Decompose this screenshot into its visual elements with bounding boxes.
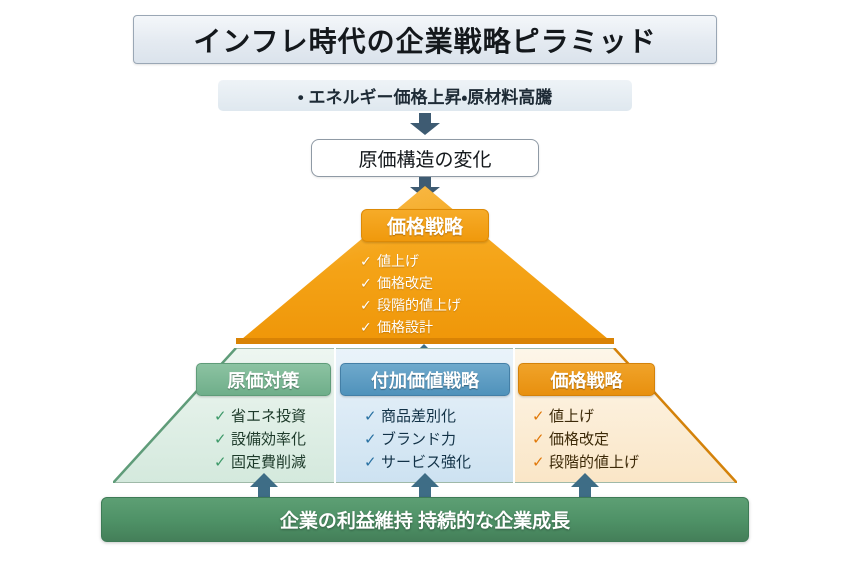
bullet-glyph: • [298, 88, 304, 107]
page-title-text: インフレ時代の企業戦略ピラミッド [193, 20, 656, 60]
list-item: ✓ 価格改定 [532, 427, 692, 450]
check-icon: ✓ [214, 453, 231, 471]
column-header-cost-label: 原価対策 [228, 367, 300, 393]
column-list-price: ✓ 値上げ ✓ 価格改定 ✓ 段階的値上げ [532, 404, 692, 473]
check-icon: ✓ [532, 453, 549, 471]
check-icon: ✓ [532, 407, 549, 425]
list-item: ✓ 値上げ [532, 404, 692, 427]
list-item-label: 値上げ [377, 251, 419, 271]
arrow-up-icon [250, 473, 278, 499]
column-list-value: ✓ 商品差別化 ✓ ブランド力 ✓ サービス強化 [364, 404, 524, 473]
apex-item-list: ✓ 値上げ ✓ 価格改定 ✓ 段階的値上げ ✓ 価格設計 [360, 250, 520, 338]
foundation-label: 企業の利益維持 持続的な企業成長 [280, 506, 570, 533]
apex-header-label: 価格戦略 [387, 212, 463, 239]
column-header-price-label: 価格戦略 [551, 367, 623, 393]
list-item-label: 段階的値上げ [549, 451, 639, 472]
list-item: ✓ ブランド力 [364, 427, 524, 450]
check-icon: ✓ [532, 430, 549, 448]
check-icon: ✓ [360, 297, 377, 314]
list-item-label: サービス強化 [381, 451, 471, 472]
diagram-canvas: インフレ時代の企業戦略ピラミッド • エネルギー価格上昇・原材料高騰 原価構造の… [0, 0, 850, 568]
apex-header-chip: 価格戦略 [361, 209, 489, 242]
list-item: ✓ 省エネ投資 [214, 404, 374, 427]
list-item-label: 価格設計 [377, 317, 433, 337]
foundation-bar: 企業の利益維持 持続的な企業成長 [101, 497, 749, 542]
arrow-head [411, 473, 439, 487]
arrow-up-icon [411, 473, 439, 499]
list-item-label: 設備効率化 [231, 428, 306, 449]
list-item-label: 段階的値上げ [377, 295, 461, 315]
column-list-cost: ✓ 省エネ投資 ✓ 設備効率化 ✓ 固定費削減 [214, 404, 374, 473]
inflation-drivers-text: エネルギー価格上昇・原材料高騰 [308, 88, 552, 107]
list-item: ✓ サービス強化 [364, 450, 524, 473]
inflation-drivers-banner: • エネルギー価格上昇・原材料高騰 [218, 80, 632, 111]
list-item: ✓ 価格設計 [360, 316, 520, 338]
check-icon: ✓ [364, 430, 381, 448]
list-item-label: 価格改定 [549, 428, 609, 449]
column-header-cost: 原価対策 [196, 363, 331, 396]
check-icon: ✓ [214, 430, 231, 448]
column-header-value: 付加価値戦略 [340, 363, 510, 396]
list-item-label: 価格改定 [377, 273, 433, 293]
check-icon: ✓ [360, 319, 377, 336]
check-icon: ✓ [214, 407, 231, 425]
page-title: インフレ時代の企業戦略ピラミッド [133, 15, 717, 64]
list-item: ✓ 段階的値上げ [532, 450, 692, 473]
cost-structure-change-label: 原価構造の変化 [358, 145, 491, 172]
arrow-down-icon [410, 113, 440, 135]
arrow-up-icon [571, 473, 599, 499]
list-item-label: 省エネ投資 [231, 405, 306, 426]
column-header-price: 価格戦略 [518, 363, 655, 396]
list-item: ✓ 商品差別化 [364, 404, 524, 427]
arrow-head [250, 473, 278, 487]
check-icon: ✓ [360, 253, 377, 270]
cost-structure-change-node: 原価構造の変化 [311, 139, 539, 177]
check-icon: ✓ [360, 275, 377, 292]
inflation-drivers-label: • エネルギー価格上昇・原材料高騰 [298, 83, 552, 108]
list-item: ✓ 値上げ [360, 250, 520, 272]
list-item-label: 商品差別化 [381, 405, 456, 426]
check-icon: ✓ [364, 453, 381, 471]
arrow-head [410, 123, 440, 135]
column-header-value-label: 付加価値戦略 [371, 367, 479, 393]
check-icon: ✓ [364, 407, 381, 425]
list-item-label: ブランド力 [381, 428, 456, 449]
list-item: ✓ 固定費削減 [214, 450, 374, 473]
arrow-head [571, 473, 599, 487]
list-item: ✓ 段階的値上げ [360, 294, 520, 316]
list-item: ✓ 価格改定 [360, 272, 520, 294]
list-item-label: 固定費削減 [231, 451, 306, 472]
list-item: ✓ 設備効率化 [214, 427, 374, 450]
list-item-label: 値上げ [549, 405, 594, 426]
